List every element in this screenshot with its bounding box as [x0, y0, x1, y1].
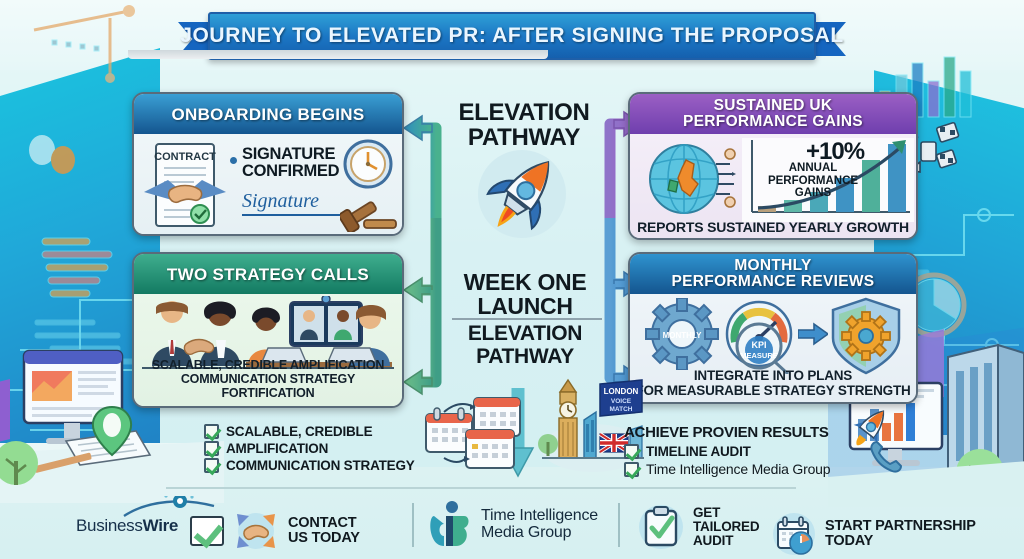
businesswire-logo[interactable]: BusinessWire: [76, 516, 178, 536]
card-monthly-performance-reviews[interactable]: MONTHLY PERFORMANCE REVIEWS: [628, 252, 918, 404]
kpi-label-line1: KPI: [751, 340, 766, 350]
bullet-dot-icon: [230, 157, 237, 164]
uk-stat-label-line3: GAINS: [760, 187, 866, 200]
checklist-left-label-1: AMPLIFICATION: [226, 441, 328, 456]
card-onboarding-header: ONBOARDING BEGINS: [134, 94, 402, 134]
week-line2: LAUNCH: [430, 294, 620, 318]
infographic-canvas: JOURNEY TO ELEVATED PR: AFTER SIGNING TH…: [0, 0, 1024, 559]
tailored-line3: AUDIT: [693, 534, 759, 548]
center-divider: [452, 318, 602, 320]
start-partnership-text: START PARTNERSHIP TODAY: [825, 519, 976, 549]
gear-label: MONTHLY: [663, 331, 702, 340]
card-strategy-caption: SCALABLE, CREDIBLE AMPLIFICATION COMMUNI…: [134, 358, 402, 400]
time-intelligence-wordmark: Time Intelligence Media Group: [481, 507, 598, 541]
kpi-label-line2: MEASURE: [740, 351, 778, 360]
start-partnership-group[interactable]: START PARTNERSHIP TODAY: [772, 512, 976, 556]
london-banner-line2: VOICE: [611, 398, 632, 405]
shield-gear-icon: [826, 296, 906, 376]
card-onboarding-begins[interactable]: ONBOARDING BEGINS CONTRACT SIGNATURE CON…: [132, 92, 404, 236]
kpi-gauge-icon: KPI MEASURE: [718, 298, 800, 374]
rocket-icon: [482, 150, 566, 236]
partnership-line2: TODAY: [825, 534, 976, 549]
card-reviews-body: MONTHLY KPI MEASURE: [630, 294, 916, 402]
contact-line1: CONTACT: [288, 516, 360, 531]
uk-stat-label: ANNUAL PERFORMANCE GAINS: [760, 162, 866, 200]
checklist-left: SCALABLE, CREDIBLE AMPLIFICATION COMMUNI…: [204, 424, 415, 475]
reviews-caption-line1: INTEGRATE INTO PLANS: [630, 368, 916, 383]
footer-vertical-divider-1: [412, 503, 414, 547]
card-strategy-body: SCALABLE, CREDIBLE AMPLIFICATION COMMUNI…: [134, 294, 402, 406]
checkbox-icon[interactable]: [204, 441, 219, 456]
checkbox-icon[interactable]: [204, 458, 219, 473]
achieve-proven-results-heading: ACHIEVE PROVIEN RESULTS: [624, 424, 829, 441]
week-line1: WEEK ONE: [430, 270, 620, 294]
big-ben-icon: [559, 380, 577, 458]
tim-line2: Media Group: [481, 524, 598, 541]
strategy-caption-line2: COMMUNICATION STRATEGY FORTIFICATION: [134, 372, 402, 400]
clipboard-check-icon: [638, 504, 684, 550]
signature-script-text: Signature: [242, 190, 354, 216]
globe-uk-icon: [644, 140, 736, 218]
checklist-item[interactable]: TIMELINE AUDIT: [624, 444, 830, 459]
card-uk-title: SUSTAINED UK PERFORMANCE GAINS: [683, 98, 863, 130]
calendar-clock-icon: [772, 512, 816, 556]
tailored-line1: GET: [693, 506, 759, 520]
contact-us-today-group[interactable]: CONTACT US TODAY: [190, 510, 360, 552]
card-onboarding-body: CONTRACT SIGNATURE CONFIRMED Signature: [134, 134, 402, 234]
checklist-right: TIMELINE AUDIT Time Intelligence Media G…: [624, 444, 830, 479]
title-banner-shadow: [128, 50, 548, 59]
uk-title-line2: PERFORMANCE GAINS: [683, 113, 863, 130]
card-uk-header: SUSTAINED UK PERFORMANCE GAINS: [630, 94, 916, 134]
uk-title-line1: SUSTAINED UK: [714, 97, 833, 114]
checklist-left-label-0: SCALABLE, CREDIBLE: [226, 424, 372, 439]
london-banner: LONDON VOICE MATCH: [600, 380, 642, 416]
checklist-right-label-1: Time Intelligence Media Group: [646, 461, 830, 477]
time-intelligence-logo-group[interactable]: Time Intelligence Media Group: [426, 500, 598, 548]
reviews-title-line2: PERFORMANCE REVIEWS: [672, 273, 875, 290]
elevation-top-line1: ELEVATION: [424, 100, 624, 125]
card-strategy-header: TWO STRATEGY CALLS: [134, 254, 402, 294]
checklist-item[interactable]: Time Intelligence Media Group: [624, 461, 830, 477]
card-strategy-title: TWO STRATEGY CALLS: [167, 266, 369, 283]
gavel-icon: [340, 188, 398, 232]
card-sustained-uk-performance-gains[interactable]: SUSTAINED UK PERFORMANCE GAINS: [628, 92, 918, 240]
clock-icon: [340, 138, 396, 190]
time-intelligence-logo: [426, 500, 472, 548]
elevation-top-line2: PATHWAY: [424, 125, 624, 150]
checklist-item[interactable]: COMMUNICATION STRATEGY: [204, 458, 415, 473]
card-reviews-caption: INTEGRATE INTO PLANS FOR MEASURABLE STRA…: [630, 368, 916, 398]
page-title: JOURNEY TO ELEVATED PR: AFTER SIGNING TH…: [180, 24, 844, 48]
phone-icon: [866, 436, 906, 476]
center-elevation-pathway-top: ELEVATION PATHWAY: [424, 100, 624, 150]
strategy-caption-line1: SCALABLE, CREDIBLE AMPLIFICATION: [134, 358, 402, 372]
uk-stat-label-line2: PERFORMANCE: [760, 175, 866, 188]
contact-us-today-text: CONTACT US TODAY: [288, 516, 360, 546]
contact-line2: US TODAY: [288, 531, 360, 546]
card-reviews-header: MONTHLY PERFORMANCE REVIEWS: [630, 254, 916, 294]
arrow-right-icon: [798, 322, 828, 346]
big-check-icon: [190, 516, 224, 546]
card-uk-caption: REPORTS SUSTAINED YEARLY GROWTH: [630, 220, 916, 234]
left-top-pins-decor: [14, 0, 184, 90]
card-uk-body: +10% ANNUAL PERFORMANCE GAINS REPORTS SU…: [630, 134, 916, 238]
reviews-caption-line2: FOR MEASURABLE STRATEGY STRENGTH: [630, 383, 916, 398]
get-tailored-audit-text: GET TAILORED AUDIT: [693, 506, 759, 548]
checklist-left-label-2: COMMUNICATION STRATEGY: [226, 458, 415, 473]
gear-icon: MONTHLY: [644, 298, 720, 370]
card-two-strategy-calls[interactable]: TWO STRATEGY CALLS: [132, 252, 404, 408]
contract-handshake-icon: CONTRACT: [142, 140, 228, 232]
get-tailored-audit-group[interactable]: GET TAILORED AUDIT: [638, 504, 759, 550]
card-onboarding-title: ONBOARDING BEGINS: [171, 106, 364, 123]
checkbox-icon[interactable]: [204, 424, 219, 439]
partnership-line1: START PARTNERSHIP: [825, 519, 976, 534]
tailored-line2: TAILORED: [693, 520, 759, 534]
signature-confirmed-text: SIGNATURE CONFIRMED: [242, 146, 348, 180]
uk-stat-label-line1: ANNUAL: [760, 162, 866, 175]
tim-line1: Time Intelligence: [481, 507, 598, 524]
reviews-title-line1: MONTHLY: [734, 257, 811, 274]
center-week-one-launch: WEEK ONE LAUNCH: [430, 270, 620, 318]
footer-divider: [166, 487, 796, 489]
calendar-icon: [424, 392, 524, 470]
checklist-item[interactable]: SCALABLE, CREDIBLE: [204, 424, 415, 439]
checklist-right-label-0: TIMELINE AUDIT: [646, 444, 751, 459]
footer-vertical-divider-2: [618, 503, 620, 547]
card-reviews-title: MONTHLY PERFORMANCE REVIEWS: [672, 258, 875, 290]
center-elevation-pathway-bottom: ELEVATION PATHWAY: [430, 322, 620, 368]
london-banner-line1: LONDON: [604, 387, 639, 396]
checklist-item[interactable]: AMPLIFICATION: [204, 441, 415, 456]
handshake-arrows-icon: [233, 510, 279, 552]
checkbox-icon[interactable]: [624, 462, 639, 477]
elevation-bottom-line1: ELEVATION: [430, 322, 620, 345]
london-banner-line3: MATCH: [610, 406, 633, 413]
checkbox-icon[interactable]: [624, 444, 639, 459]
elevation-bottom-line2: PATHWAY: [430, 345, 620, 368]
contract-doc-label: CONTRACT: [154, 151, 216, 163]
